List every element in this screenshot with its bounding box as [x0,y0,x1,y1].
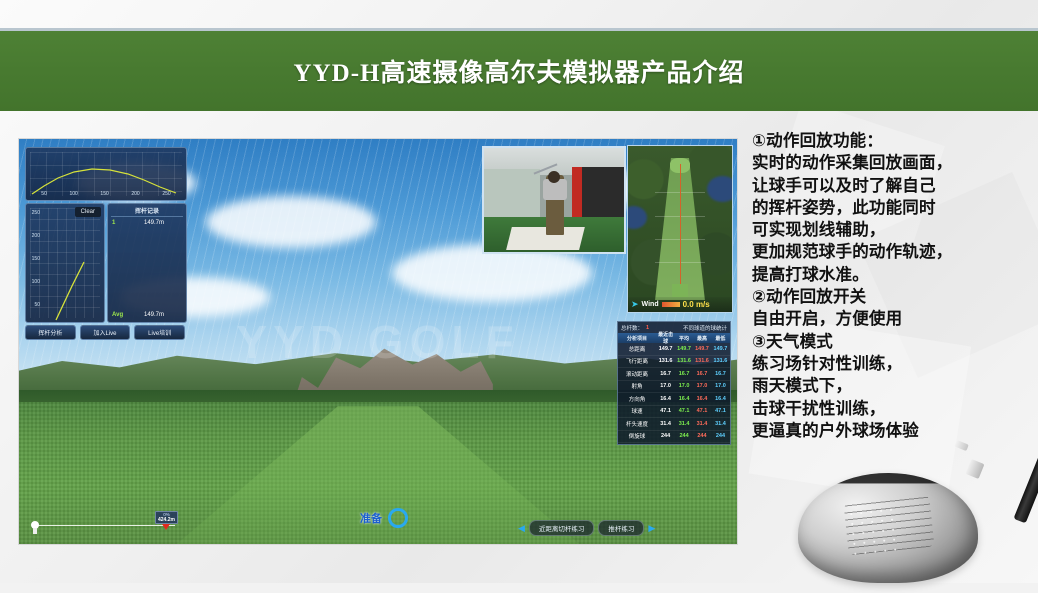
table-cell-min: 244 [711,433,730,439]
table-cell-min: 149.7 [711,346,730,352]
table-row: 飞行距离131.6131.6131.6131.6 [618,356,730,369]
distance-graph-panel[interactable]: 250 200 150 100 50 Clear [25,203,105,323]
wind-value: 0.0 m/s [683,300,710,309]
shot-count-value: 1 [646,325,649,331]
wind-strength-bar [662,302,680,307]
ruler-target-marker: 0% 424.2m [155,511,178,530]
table-cell-avg: 131.6 [675,358,693,364]
column-header: 平均 [675,335,693,342]
column-header: 最近击球 [656,331,675,345]
golf-club-photo [784,393,1038,593]
average-label: Avg [112,312,126,318]
table-cell-avg: 31.4 [675,421,693,427]
minimap-shot-line [680,164,681,290]
table-cell-last: 17.0 [656,383,675,389]
table-cell-name: 总距离 [618,345,656,353]
table-cell-last: 47.1 [656,408,675,414]
column-header: 最低 [711,335,730,342]
table-cell-max: 47.1 [693,408,711,414]
swing-record-row[interactable]: 1 149.7m [112,220,182,226]
table-cell-max: 31.4 [693,421,711,427]
wind-arrow-icon: ➤ [631,299,639,310]
distance-line [26,204,104,322]
table-cell-max: 244 [693,433,711,439]
prev-arrow-icon[interactable]: ◀ [518,523,525,534]
table-cell-avg: 47.1 [675,408,693,414]
ruler-tag: 0% 424.2m [155,511,178,524]
distance-ruler: 0% 424.2m [27,507,182,535]
next-arrow-icon[interactable]: ▶ [648,523,655,534]
club-ferrule [966,459,985,479]
minimap-tee-box [672,284,689,297]
slide-root: YYD-H高速摄像高尔夫模拟器产品介绍 YYD GOLF 50 100 150 … [0,0,1038,583]
table-cell-max: 131.6 [693,358,711,364]
ready-indicator: 准备 [360,508,408,528]
table-cell-name: 滚动距离 [618,370,656,378]
table-cell-name: 方向角 [618,395,656,403]
club-face-dots [846,505,897,556]
table-row: 总距离149.7149.7149.7149.7 [618,343,730,356]
table-cell-name: 倒旋球 [618,432,656,440]
table-cell-max: 149.7 [693,346,711,352]
table-row: 方向角16.416.416.416.4 [618,393,730,406]
swing-record-title: 挥杆记录 [108,206,186,215]
swing-record-panel: 挥杆记录 1 149.7m Avg 149.7m [107,203,187,323]
table-cell-name: 飞行距离 [618,357,656,365]
table-cell-name: 球速 [618,407,656,415]
record-value: 149.7m [126,220,182,226]
trajectory-x-axis: 50 100 150 200 250 [30,189,182,199]
table-cell-last: 31.4 [656,421,675,427]
shot-count-label: 总杆数： [621,324,643,332]
stats-title: 不同球道的球统计 [683,324,727,332]
table-cell-last: 131.6 [656,358,675,364]
table-row: 滚动距离16.716.716.716.7 [618,368,730,381]
stats-column-headers: 分析项目 最近击球 平均 最高 最低 [618,333,730,343]
shot-stats-table[interactable]: 总杆数： 1 不同球道的球统计 分析项目 最近击球 平均 最高 最低 总距离14… [617,321,731,445]
ruler-distance: 424.2m [158,517,175,523]
column-header: 最高 [693,335,711,342]
table-cell-min: 131.6 [711,358,730,364]
page-title: YYD-H高速摄像高尔夫模拟器产品介绍 [0,31,1038,111]
x-tick: 100 [69,191,77,197]
x-tick: 200 [131,191,139,197]
minimap-water [707,176,733,203]
ruler-tee-icon [33,528,37,534]
simulator-screenshot: YYD GOLF 50 100 150 200 250 250 200 150 … [18,138,738,545]
table-row: 球速47.147.147.147.1 [618,406,730,419]
table-cell-avg: 149.7 [675,346,693,352]
ready-ring-icon [388,508,408,528]
table-row: 下旋球2565256525652565 [618,443,730,445]
table-cell-min: 16.4 [711,396,730,402]
record-index: 1 [112,220,126,226]
replay-wall-left [484,169,540,221]
table-cell-min: 17.0 [711,383,730,389]
clear-button[interactable]: Clear [75,207,101,217]
table-row: 杆头速度31.431.431.431.4 [618,418,730,431]
ruler-line [35,525,175,526]
chipping-practice-button[interactable]: 近距离切杆练习 [529,520,595,536]
divider [111,216,183,217]
table-cell-last: 16.4 [656,396,675,402]
practice-mode-bar: ◀ 近距离切杆练习 推杆练习 ▶ [518,520,655,536]
ruler-pointer-icon [162,524,170,530]
stats-body: 总距离149.7149.7149.7149.7飞行距离131.6131.6131… [618,343,730,445]
replay-red-panel [572,167,582,219]
table-cell-avg: 16.7 [675,371,693,377]
table-cell-max: 16.4 [693,396,711,402]
putting-practice-button[interactable]: 推杆练习 [598,520,644,536]
action-button-row: 挥杆分析 加入Live Live培训 [25,325,185,340]
swing-record-average: Avg 149.7m [112,312,182,318]
table-cell-last: 149.7 [656,346,675,352]
course-minimap[interactable]: ➤ Wind 0.0 m/s [627,145,733,313]
column-header: 分析项目 [618,335,656,342]
trajectory-graph-panel[interactable]: 50 100 150 200 250 [25,147,187,201]
table-cell-min: 16.7 [711,371,730,377]
x-tick: 50 [41,191,47,197]
table-cell-last: 16.7 [656,371,675,377]
average-value: 149.7m [126,312,182,318]
table-cell-avg: 244 [675,433,693,439]
x-tick: 150 [100,191,108,197]
replay-video-window[interactable] [482,146,626,254]
table-cell-min: 31.4 [711,421,730,427]
table-cell-min: 47.1 [711,408,730,414]
ready-label: 准备 [360,510,382,526]
table-cell-last: 244 [656,433,675,439]
table-cell-max: 16.7 [693,371,711,377]
table-row: 射角17.017.017.017.0 [618,381,730,394]
table-cell-name: 杆头速度 [618,420,656,428]
club-ferrule-upper [954,440,969,451]
wind-indicator: ➤ Wind 0.0 m/s [628,297,732,312]
swing-analysis-button[interactable]: 挥杆分析 [25,325,76,340]
table-cell-avg: 16.4 [675,396,693,402]
join-live-button[interactable]: 加入Live [80,325,131,340]
table-cell-max: 17.0 [693,383,711,389]
table-cell-avg: 17.0 [675,383,693,389]
table-cell-name: 射角 [618,382,656,390]
table-row: 倒旋球244244244244 [618,431,730,444]
wind-label: Wind [642,301,659,308]
x-tick: 250 [162,191,170,197]
live-training-button[interactable]: Live培训 [134,325,185,340]
